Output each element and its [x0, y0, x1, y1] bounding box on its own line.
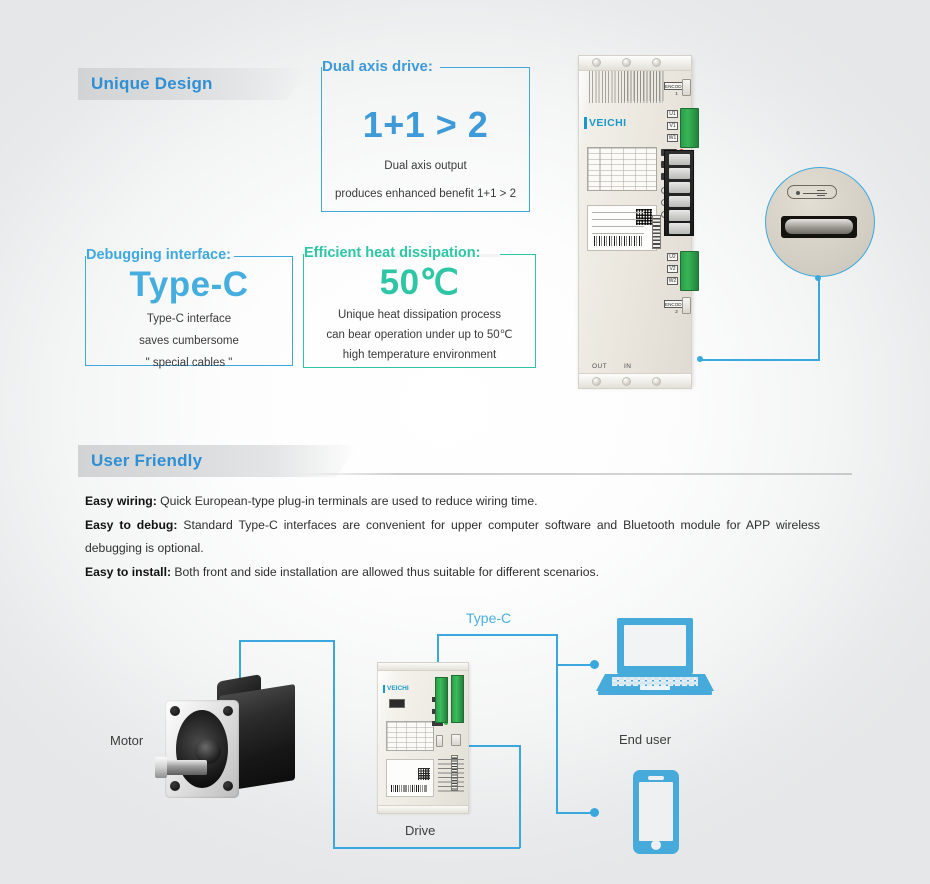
copy-text-easy-to-debug: Standard Type-C interfaces are convenien…: [85, 518, 820, 555]
smartphone-icon: [633, 770, 679, 854]
encoder-1-port: [682, 79, 691, 96]
drive-display: [389, 699, 405, 708]
feature-desc-line-2: produces enhanced benefit 1+1 > 2: [322, 186, 529, 202]
magnifier-leader-line-horizontal: [700, 359, 820, 361]
drive-encoder-port: [436, 735, 443, 747]
copy-paragraph-easy-wiring: Easy wiring: Quick European-type plug-in…: [85, 490, 820, 513]
green-terminal-block-1: [680, 108, 699, 148]
screw-icon: [652, 377, 661, 386]
terminal-label-w1: W1: [667, 134, 678, 142]
screw-icon: [592, 58, 601, 67]
user-friendly-copy: Easy wiring: Quick European-type plug-in…: [85, 490, 820, 585]
feature-title-debugging-interface: Debugging interface:: [86, 245, 237, 265]
qr-code-icon: [418, 768, 430, 780]
usb-type-c-port-magnifier: [765, 167, 875, 277]
barcode-icon: [391, 785, 427, 792]
feature-box-debugging-interface: Debugging interface: Type-C Type-C inter…: [85, 256, 293, 366]
phone-screen: [639, 782, 673, 841]
motor-flange: [165, 700, 239, 798]
drive-type-c-port: [451, 734, 461, 746]
copy-text-easy-to-install: Both front and side installation are all…: [171, 565, 599, 579]
drive-green-terminal-1: [435, 677, 448, 723]
feature-title-dual-axis-drive: Dual axis drive:: [322, 57, 440, 77]
feature-desc-line-1: Unique heat dissipation process: [304, 307, 535, 323]
encoder-2-port: [682, 297, 691, 314]
motor-bolt: [170, 781, 180, 791]
motor-shaft-end: [155, 757, 167, 778]
feature-desc-line-1: Type-C interface: [86, 311, 292, 327]
connector-typec-horizontal: [437, 634, 557, 636]
laptop-icon: [596, 618, 714, 698]
terminal-label-v2: V2: [667, 265, 678, 273]
motor-face: [176, 710, 228, 788]
magnifier-leader-line: [818, 278, 820, 360]
feature-desc-line-3: high temperature environment: [304, 347, 535, 363]
drive-io-labels: [438, 759, 464, 795]
feature-box-dual-axis-drive: Dual axis drive: 1+1 > 2 Dual axis outpu…: [321, 67, 530, 212]
copy-text-easy-wiring: Quick European-type plug-in terminals ar…: [157, 494, 538, 508]
motor-illustration: [157, 672, 297, 812]
barcode-icon: [594, 236, 644, 246]
io-pin-header: [652, 215, 661, 249]
dip-switch-table: [587, 147, 657, 191]
drive-bottom-bracket: [377, 805, 469, 814]
diagram-label-end-user: End user: [619, 732, 671, 747]
terminal-pin-labels-right: [624, 71, 664, 101]
diagram-label-motor: Motor: [110, 733, 143, 748]
connector-branch-vertical: [556, 634, 558, 814]
feature-desc-line-2: can bear operation under up to 50℃: [304, 327, 535, 343]
laptop-lid: [617, 618, 693, 674]
terminal-label-u1: U1: [667, 110, 678, 118]
drive-illustration: VEICHI: [377, 663, 469, 813]
copy-lead-easy-to-install: Easy to install:: [85, 565, 171, 579]
screw-icon: [622, 377, 631, 386]
terminal-label-v1: V1: [667, 122, 678, 130]
screw-icon: [592, 377, 601, 386]
product-photo-dual-axis-servo-drive: VEICHI U1 V1 W1: [578, 57, 692, 387]
laptop-keyboard: [612, 677, 698, 686]
section-divider-rule: [300, 473, 852, 475]
power-terminal-block: [664, 150, 694, 236]
feature-desc-line-3: " special cables ": [86, 355, 292, 371]
copy-paragraph-easy-to-debug: Easy to debug: Standard Type-C interface…: [85, 514, 820, 560]
out-label: OUT: [592, 363, 607, 370]
laptop-foot: [598, 691, 712, 695]
usb-symbol-icon: [787, 185, 837, 199]
terminal-label-u2: U2: [667, 253, 678, 261]
drive-brand-logo: VEICHI: [387, 685, 409, 692]
screw-icon: [652, 58, 661, 67]
copy-lead-easy-to-debug: Easy to debug:: [85, 518, 177, 532]
magnifier-anchor-dot: [697, 356, 703, 362]
connector-drive-usb-vertical: [519, 745, 521, 848]
laptop-spacebar: [640, 686, 670, 690]
feature-desc-line-1: Dual axis output: [322, 158, 529, 174]
motor-bolt: [170, 706, 180, 716]
magnifier-leader-dot: [815, 275, 821, 281]
drive-dip-table: [386, 721, 434, 751]
connection-dot-phone: [590, 808, 599, 817]
connector-drive-bottom-horizontal: [333, 847, 520, 849]
motor-bolt: [223, 706, 233, 716]
in-label: IN: [624, 363, 632, 370]
green-terminal-block-2: [680, 251, 699, 291]
feature-headline-temperature: 50℃: [304, 263, 535, 303]
feature-desc-line-2: saves cumbersome: [86, 333, 292, 349]
section-banner-unique-design: Unique Design: [78, 68, 308, 100]
copy-lead-easy-wiring: Easy wiring:: [85, 494, 157, 508]
phone-speaker: [648, 776, 664, 780]
feature-headline-type-c: Type-C: [86, 265, 292, 305]
drive-top-bracket: [377, 662, 469, 671]
screw-icon: [622, 58, 631, 67]
connector-motor-horizontal: [239, 640, 334, 642]
page-root: Unique Design Dual axis drive: 1+1 > 2 D…: [0, 0, 930, 884]
drive-nameplate: [386, 759, 434, 797]
product-brand-logo: VEICHI: [589, 117, 626, 129]
diagram-label-type-c: Type-C: [466, 610, 511, 626]
feature-title-heat-dissipation: Efficient heat dissipation:: [304, 243, 486, 263]
feature-box-heat-dissipation: Efficient heat dissipation: 50℃ Unique h…: [303, 254, 536, 368]
feature-headline-dual-axis-drive: 1+1 > 2: [322, 104, 529, 146]
copy-paragraph-easy-to-install: Easy to install: Both front and side ins…: [85, 561, 820, 584]
diagram-label-drive: Drive: [405, 823, 435, 838]
section-title-unique-design: Unique Design: [78, 74, 213, 94]
phone-home-button: [651, 840, 661, 850]
terminal-label-w2: W2: [667, 277, 678, 285]
drive-green-terminal-2: [451, 675, 464, 723]
product-nameplate-label: [587, 205, 657, 251]
connector-drive-left-vertical: [333, 640, 335, 848]
laptop-screen: [624, 625, 686, 666]
motor-bolt: [223, 781, 233, 791]
phone-shell: [633, 770, 679, 854]
section-title-user-friendly: User Friendly: [78, 451, 202, 471]
type-c-port: [781, 216, 857, 238]
